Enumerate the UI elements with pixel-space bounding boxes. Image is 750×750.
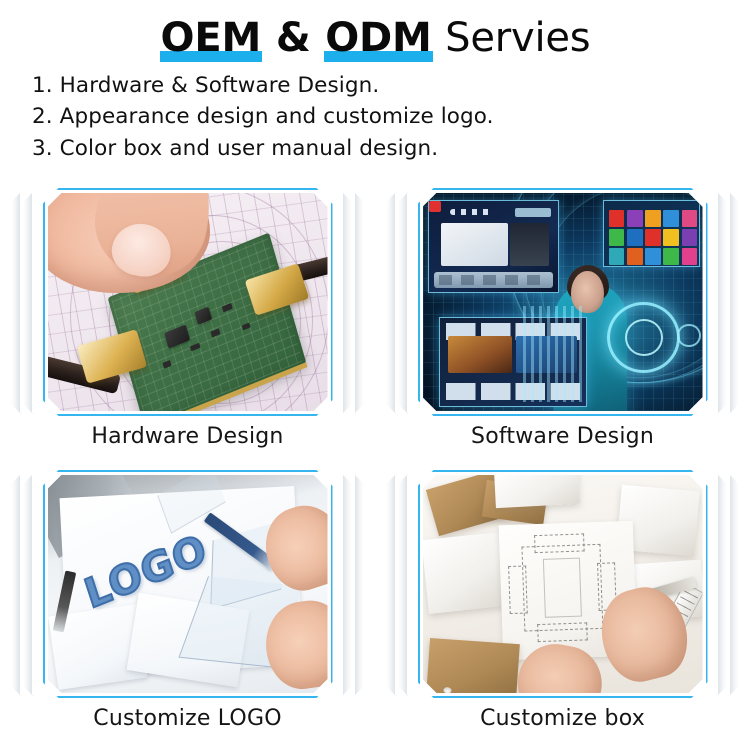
title-odm: ODM — [324, 16, 432, 60]
list-item: 1. Hardware & Software Design. — [32, 70, 750, 101]
bracket-right-icon — [713, 474, 739, 696]
service-list: 1. Hardware & Software Design. 2. Appear… — [32, 70, 750, 164]
card-grid: Hardware Design — [0, 186, 750, 750]
photo-frame — [418, 188, 708, 416]
card-caption: Customize box — [480, 706, 645, 731]
bracket-right-icon — [338, 474, 364, 696]
card-frame-wrap — [390, 186, 735, 418]
card-caption: Software Design — [471, 424, 654, 449]
photo-frame — [43, 188, 333, 416]
card-software-design[interactable]: Software Design — [375, 186, 750, 468]
card-customize-logo[interactable]: LOGO Customize LOGO — [0, 468, 375, 750]
card-customize-box[interactable]: Customize box — [375, 468, 750, 750]
card-caption: Customize LOGO — [93, 706, 281, 731]
header: OEM & ODM Servies — [0, 0, 750, 60]
list-item: 3. Color box and user manual design. — [32, 133, 750, 164]
card-caption: Hardware Design — [91, 424, 283, 449]
photo-hardware — [48, 193, 328, 411]
bracket-left-icon — [11, 192, 37, 414]
title-oem: OEM — [160, 16, 263, 60]
photo-frame — [418, 470, 708, 698]
photo-frame: LOGO — [43, 470, 333, 698]
title-tail: Servies — [445, 15, 590, 61]
bracket-left-icon — [11, 474, 37, 696]
bracket-left-icon — [386, 474, 412, 696]
photo-customize-logo: LOGO — [48, 475, 328, 693]
page-title: OEM & ODM Servies — [0, 16, 750, 60]
bracket-right-icon — [713, 192, 739, 414]
card-frame-wrap: LOGO — [15, 468, 360, 700]
card-frame-wrap — [15, 186, 360, 418]
title-ampersand: & — [276, 15, 311, 61]
list-item: 2. Appearance design and customize logo. — [32, 101, 750, 132]
card-hardware-design[interactable]: Hardware Design — [0, 186, 375, 468]
bracket-left-icon — [386, 192, 412, 414]
card-frame-wrap — [390, 468, 735, 700]
bracket-right-icon — [338, 192, 364, 414]
photo-customize-box — [423, 475, 703, 693]
photo-software — [423, 193, 703, 411]
